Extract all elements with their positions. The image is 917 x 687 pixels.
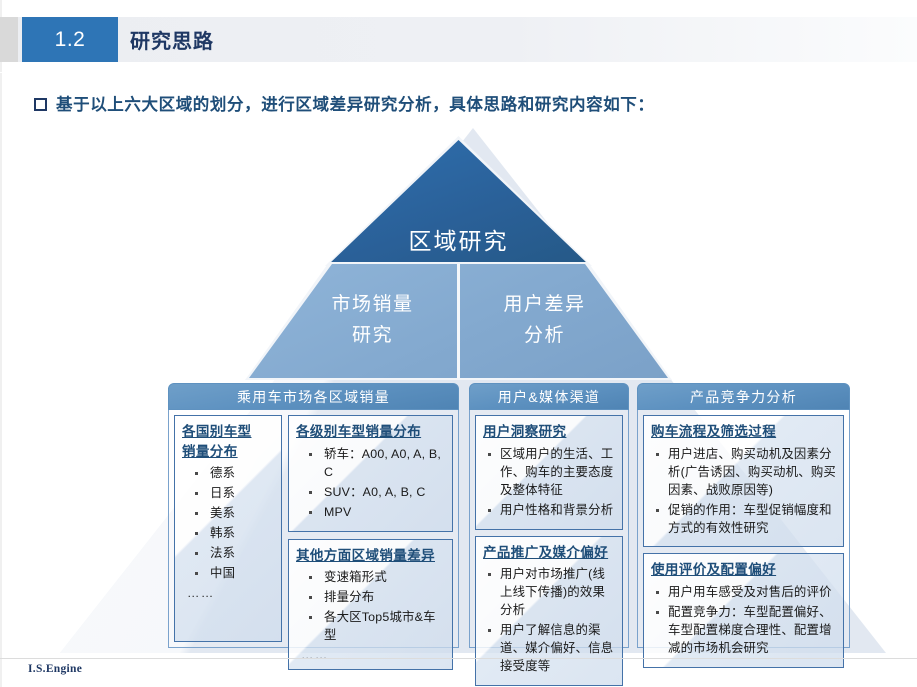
card-promotion-media-preference[interactable]: 产品推广及媒介偏好 用户对市场推广(线上线下传播)的效果分析 用户了解信息的渠道…: [475, 536, 623, 686]
footer-divider: [0, 658, 917, 659]
bullet-list-purchase-process: 用户进店、购买动机及因素分析(广告诱因、购买动机、购买因素、战败原因等) 促销的…: [651, 446, 836, 538]
card-brand-origin-sales[interactable]: 各国别车型 销量分布 德系 日系 美系 韩系 法系 中国 ……: [174, 415, 282, 642]
list-item: 配置竞争力：车型配置偏好、车型配置梯度合理性、配置增减的市场机会研究: [651, 604, 836, 658]
footer-brand: I.S.Engine: [28, 663, 82, 675]
card-title-usage-evaluation: 使用评价及配置偏好: [651, 560, 836, 580]
column-1-left-group: 各国别车型 销量分布 德系 日系 美系 韩系 法系 中国 ……: [174, 415, 282, 642]
bullet-list-usage-evaluation: 用户用车感受及对售后的评价 配置竞争力：车型配置偏好、车型配置梯度合理性、配置增…: [651, 584, 836, 658]
pyramid-apex-label: 区域研究: [329, 140, 588, 264]
list-item: 促销的作用：车型促销幅度和方式的有效性研究: [651, 502, 836, 538]
column-regional-sales: 乘用车市场各区域销量 各国别车型 销量分布 德系 日系 美系 韩系 法系 中国 …: [168, 383, 459, 648]
slide-canvas: 1.2 研究思路 基于以上六大区域的划分，进行区域差异研究分析，具体思路和研究内…: [0, 0, 917, 687]
column-3-body: 购车流程及筛选过程 用户进店、购买动机及因素分析(广告诱因、购买动机、购买因素、…: [637, 410, 850, 648]
list-item: 用户用车感受及对售后的评价: [651, 584, 836, 602]
left-edge-strip: [0, 0, 2, 687]
card-user-insight[interactable]: 用户洞察研究 区域用户的生活、工作、购车的主要态度及整体特征 用户性格和背景分析: [475, 415, 623, 530]
card-title-promotion-media: 产品推广及媒介偏好: [483, 543, 615, 563]
tier2-block-market-sales: 市场销量 研究: [290, 264, 455, 378]
card-title-other-regional-gap: 其他方面区域销量差异: [296, 546, 445, 566]
column-user-media-channel: 用户&媒体渠道 用户洞察研究 区域用户的生活、工作、购车的主要态度及整体特征 用…: [469, 383, 629, 648]
list-item: 变速箱形式: [296, 569, 445, 587]
list-item: 各大区Top5城市&车型: [296, 609, 445, 645]
lead-statement: 基于以上六大区域的划分，进行区域差异研究分析，具体思路和研究内容如下：: [34, 91, 655, 115]
card-usage-evaluation[interactable]: 使用评价及配置偏好 用户用车感受及对售后的评价 配置竞争力：车型配置偏好、车型配…: [643, 553, 844, 668]
list-item: 日系: [182, 485, 274, 503]
card-purchase-process[interactable]: 购车流程及筛选过程 用户进店、购买动机及因素分析(广告诱因、购买动机、购买因素、…: [643, 415, 844, 547]
page-title: 研究思路: [130, 17, 214, 62]
column-1-header: 乘用车市场各区域销量: [168, 383, 459, 410]
column-1-right-group: 各级别车型销量分布 轿车：A00, A0, A, B, C SUV：A0, A,…: [288, 415, 453, 642]
list-item: 用户对市场推广(线上线下传播)的效果分析: [483, 566, 615, 620]
bullet-list-other-regional-gap: 变速箱形式 排量分布 各大区Top5城市&车型: [296, 569, 445, 645]
bullet-list-user-insight: 区域用户的生活、工作、购车的主要态度及整体特征 用户性格和背景分析: [483, 446, 615, 520]
column-3-header: 产品竞争力分析: [637, 383, 850, 410]
card-title-user-insight: 用户洞察研究: [483, 422, 615, 442]
tier2-left-line2: 研究: [352, 321, 393, 352]
ellipsis-other-regional-gap: ……: [296, 648, 445, 662]
tier2-block-user-difference: 用户差异 分析: [462, 264, 627, 378]
tier2-divider: [457, 264, 460, 378]
section-number-badge: 1.2: [22, 17, 118, 62]
list-item: 用户性格和背景分析: [483, 502, 615, 520]
column-1-body: 各国别车型 销量分布 德系 日系 美系 韩系 法系 中国 …… 各级别车型销量分…: [168, 410, 459, 648]
column-product-competitiveness: 产品竞争力分析 购车流程及筛选过程 用户进店、购买动机及因素分析(广告诱因、购买…: [637, 383, 850, 648]
card-other-regional-gap[interactable]: 其他方面区域销量差异 变速箱形式 排量分布 各大区Top5城市&车型 ……: [288, 539, 453, 671]
lead-statement-text: 基于以上六大区域的划分，进行区域差异研究分析，具体思路和研究内容如下：: [56, 91, 655, 115]
square-bullet-icon: [34, 98, 47, 111]
list-item: 用户进店、购买动机及因素分析(广告诱因、购买动机、购买因素、战败原因等): [651, 446, 836, 500]
card-title-segment-sales: 各级别车型销量分布: [296, 422, 445, 442]
list-item: 用户了解信息的渠道、媒介偏好、信息接受度等: [483, 622, 615, 676]
list-item: SUV：A0, A, B, C: [296, 484, 445, 502]
tier2-right-line2: 分析: [524, 321, 565, 352]
list-item: 排量分布: [296, 589, 445, 607]
bullet-list-promotion-media: 用户对市场推广(线上线下传播)的效果分析 用户了解信息的渠道、媒介偏好、信息接受…: [483, 566, 615, 676]
list-item: 轿车：A00, A0, A, B, C: [296, 446, 445, 482]
column-2-header: 用户&媒体渠道: [469, 383, 629, 410]
list-item: 中国: [182, 565, 274, 583]
card-title-purchase-process: 购车流程及筛选过程: [651, 422, 836, 442]
list-item: 韩系: [182, 525, 274, 543]
list-item: MPV: [296, 504, 445, 522]
bullet-list-segment-sales: 轿车：A00, A0, A, B, C SUV：A0, A, B, C MPV: [296, 446, 445, 522]
list-item: 美系: [182, 505, 274, 523]
list-item: 法系: [182, 545, 274, 563]
card-title-brand-origin: 各国别车型 销量分布: [182, 422, 274, 461]
card-segment-sales[interactable]: 各级别车型销量分布 轿车：A00, A0, A, B, C SUV：A0, A,…: [288, 415, 453, 532]
ellipsis-brand-origin: ……: [182, 586, 274, 600]
bullet-list-brand-origin: 德系 日系 美系 韩系 法系 中国: [182, 465, 274, 583]
tier2-right-line1: 用户差异: [503, 290, 585, 321]
column-2-body: 用户洞察研究 区域用户的生活、工作、购车的主要态度及整体特征 用户性格和背景分析…: [469, 410, 629, 648]
header-divider: [0, 72, 917, 73]
list-item: 区域用户的生活、工作、购车的主要态度及整体特征: [483, 446, 615, 500]
list-item: 德系: [182, 465, 274, 483]
tier2-left-line1: 市场销量: [331, 290, 413, 321]
header-gray-stub: [0, 17, 18, 62]
